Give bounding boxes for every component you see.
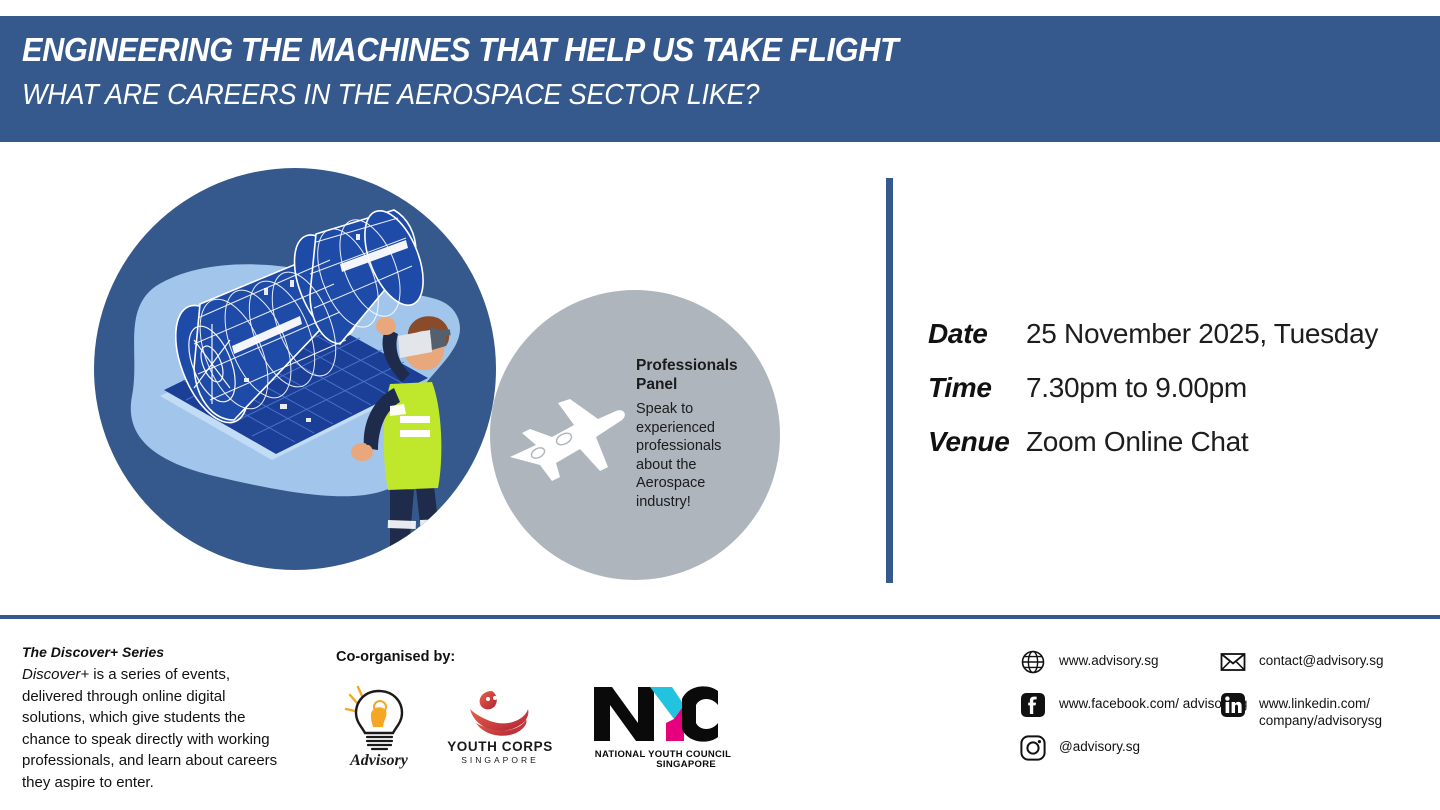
website-text: www.advisory.sg	[1059, 649, 1159, 669]
footer: The Discover+ Series Discover+ is a seri…	[0, 619, 1440, 810]
professionals-panel-card: Professionals Panel Speak to experienced…	[490, 290, 780, 580]
main-content: Professionals Panel Speak to experienced…	[0, 142, 1440, 615]
co-organiser-logos: Advisory YOUTH CORPS SINGAPORE	[336, 679, 738, 769]
panel-title-line2: Panel	[636, 376, 677, 393]
header-banner: ENGINEERING THE MACHINES THAT HELP US TA…	[0, 16, 1440, 142]
panel-title: Professionals Panel	[636, 356, 756, 394]
discover-series-title: The Discover+ Series	[22, 642, 284, 662]
discover-brand: Discover+	[22, 666, 89, 683]
youth-corps-singapore-logo: YOUTH CORPS SINGAPORE	[440, 679, 560, 769]
discover-body-text: is a series of events, delivered through…	[22, 666, 277, 791]
event-details: Date 25 November 2025, Tuesday Time 7.30…	[928, 318, 1378, 480]
date-label: Date	[928, 318, 1026, 350]
contact-column-1: www.advisory.sg www.facebook.com/ adviso…	[1020, 649, 1247, 778]
time-value: 7.30pm to 9.00pm	[1026, 372, 1247, 404]
linkedin-text: www.linkedin.com/ company/advisorysg	[1259, 692, 1440, 729]
linkedin-icon	[1220, 692, 1246, 718]
youth-corps-line2: SINGAPORE	[461, 755, 539, 765]
details-accent-bar	[886, 178, 893, 583]
instagram-icon	[1020, 735, 1046, 761]
engineer-jet-engine-graphic	[94, 168, 496, 570]
detail-row-date: Date 25 November 2025, Tuesday	[928, 318, 1378, 350]
email-text: contact@advisory.sg	[1259, 649, 1384, 669]
panel-title-line1: Professionals	[636, 357, 738, 374]
contact-linkedin[interactable]: www.linkedin.com/ company/advisorysg	[1220, 692, 1440, 729]
advisory-logo: Advisory	[336, 679, 422, 769]
facebook-icon	[1020, 692, 1046, 718]
globe-icon	[1020, 649, 1046, 675]
national-youth-council-logo: NATIONAL YOUTH COUNCIL SINGAPORE	[588, 679, 738, 769]
airplane-icon	[500, 395, 630, 495]
detail-row-time: Time 7.30pm to 9.00pm	[928, 372, 1378, 404]
advisory-wordmark: Advisory	[349, 752, 409, 769]
venue-label: Venue	[928, 426, 1026, 458]
panel-text-block: Professionals Panel Speak to experienced…	[636, 356, 756, 512]
email-icon	[1220, 649, 1246, 675]
contact-column-2: contact@advisory.sg www.linkedin.com/ co…	[1220, 649, 1440, 746]
contact-website[interactable]: www.advisory.sg	[1020, 649, 1247, 675]
date-value: 25 November 2025, Tuesday	[1026, 318, 1378, 350]
contact-facebook[interactable]: www.facebook.com/ advisorysg	[1020, 692, 1247, 718]
venue-value: Zoom Online Chat	[1026, 426, 1248, 458]
youth-corps-line1: YOUTH CORPS	[447, 739, 553, 754]
panel-description: Speak to experienced professionals about…	[636, 400, 756, 512]
contact-email[interactable]: contact@advisory.sg	[1220, 649, 1440, 675]
hero-illustration	[94, 168, 496, 570]
time-label: Time	[928, 372, 1026, 404]
detail-row-venue: Venue Zoom Online Chat	[928, 426, 1378, 458]
instagram-text: @advisory.sg	[1059, 735, 1140, 755]
page-title: ENGINEERING THE MACHINES THAT HELP US TA…	[22, 30, 1341, 70]
co-organised-block: Co-organised by: Advisory	[336, 649, 738, 769]
page-subtitle: WHAT ARE CAREERS IN THE AEROSPACE SECTOR…	[22, 75, 1341, 115]
nyc-line2: SINGAPORE	[656, 759, 716, 769]
co-organised-label: Co-organised by:	[336, 649, 738, 665]
contact-instagram[interactable]: @advisory.sg	[1020, 735, 1247, 761]
discover-series-block: The Discover+ Series Discover+ is a seri…	[22, 642, 284, 794]
discover-series-description: Discover+ is a series of events, deliver…	[22, 664, 284, 794]
